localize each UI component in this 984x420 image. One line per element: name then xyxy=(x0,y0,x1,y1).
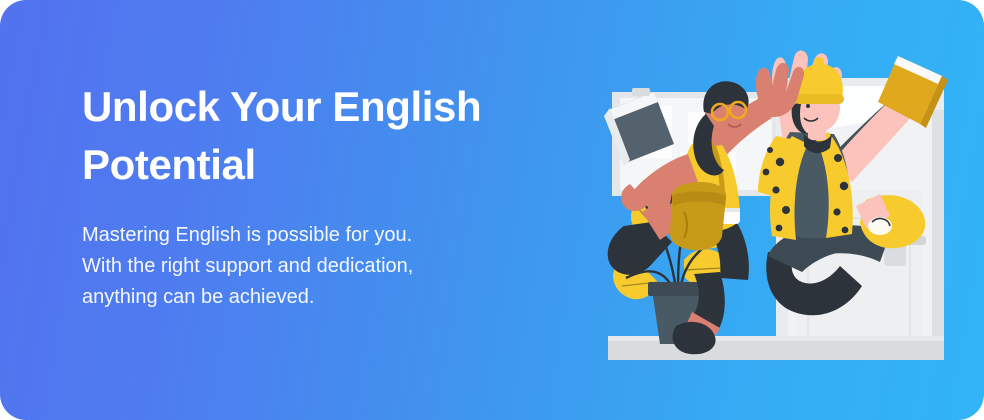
hero-banner: Unlock Your English Potential Mastering … xyxy=(0,0,984,420)
hero-subcopy: Mastering English is possible for you. W… xyxy=(82,194,552,313)
satchel-bag-icon xyxy=(670,182,726,250)
hero-illustration xyxy=(580,40,984,380)
hero-copy-block: Unlock Your English Potential Mastering … xyxy=(82,78,552,313)
page-title: Unlock Your English Potential xyxy=(82,78,552,194)
